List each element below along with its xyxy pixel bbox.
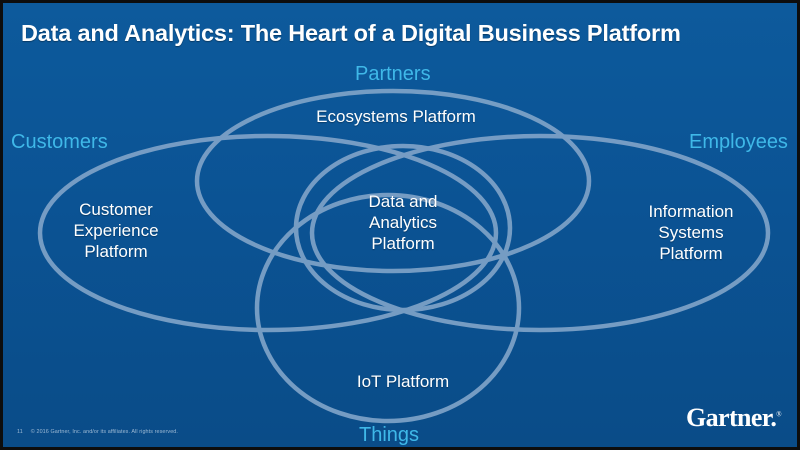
logo-wordmark: Gartner bbox=[686, 403, 770, 432]
region-label-information-systems-platform: Information Systems Platform bbox=[601, 201, 781, 264]
slide: Data and Analytics: The Heart of a Digit… bbox=[0, 0, 800, 450]
gartner-logo: Gartner.® bbox=[686, 403, 781, 433]
region-label-ecosystems-platform: Ecosystems Platform bbox=[271, 106, 521, 127]
page-number: 11 bbox=[17, 429, 23, 435]
copyright-text: © 2016 Gartner, Inc. and/or its affiliat… bbox=[31, 429, 178, 435]
registered-trademark-icon: ® bbox=[776, 410, 781, 418]
region-label-data-and-analytics-platform: Data and Analytics Platform bbox=[323, 191, 483, 254]
outer-label-partners: Partners bbox=[355, 63, 431, 86]
outer-label-things: Things bbox=[359, 424, 419, 447]
footer-copyright: 11© 2016 Gartner, Inc. and/or its affili… bbox=[17, 429, 178, 435]
outer-label-customers: Customers bbox=[11, 131, 108, 154]
region-label-customer-experience-platform: Customer Experience Platform bbox=[31, 199, 201, 262]
region-label-iot-platform: IoT Platform bbox=[308, 371, 498, 392]
outer-label-employees: Employees bbox=[689, 131, 788, 154]
